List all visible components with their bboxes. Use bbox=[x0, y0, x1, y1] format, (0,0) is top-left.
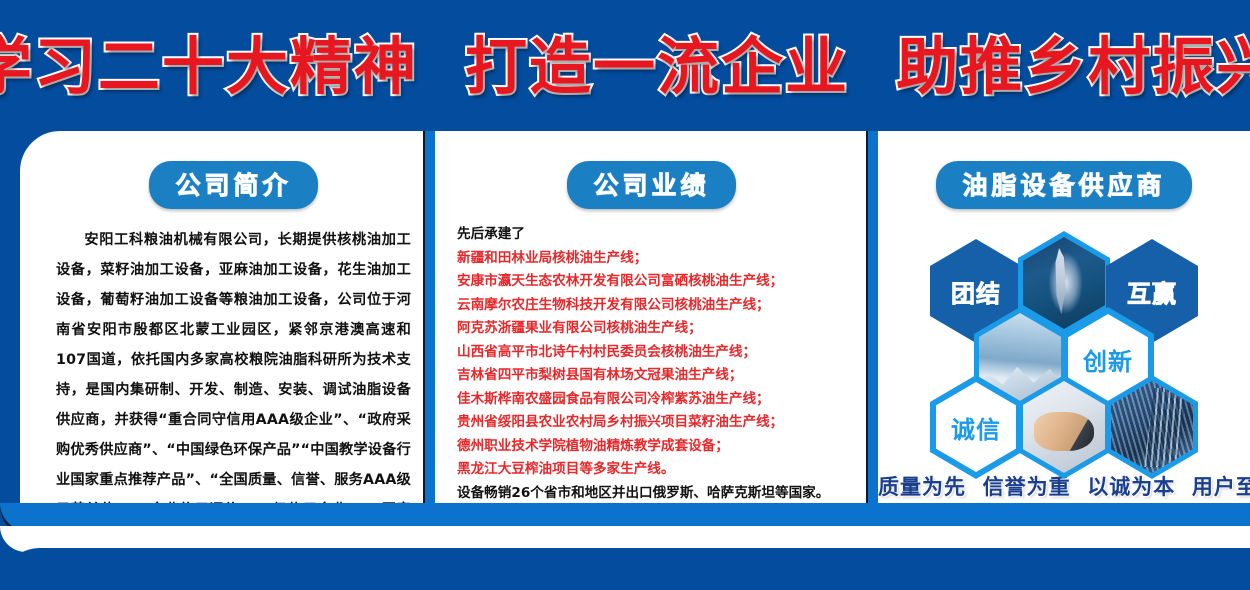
record-item: 佳木斯桦南农盛园食品有限公司冷榨紫苏油生产线； bbox=[457, 388, 868, 412]
sheet-inner-area: 公司简介 安阳工科粮油机械有限公司，长期提供核桃油加工设备，菜籽油加工设备，亚麻… bbox=[20, 131, 1250, 525]
record-item: 贵州省绥阳县农业农村局乡村振兴项目菜籽油生产线； bbox=[457, 411, 868, 435]
hex-inner: 诚信 bbox=[936, 382, 1016, 472]
record-badge: 公司业绩 bbox=[567, 161, 735, 209]
content-sheet: 公司简介 安阳工科粮油机械有限公司，长期提供核桃油加工设备，菜籽油加工设备，亚麻… bbox=[0, 118, 1250, 548]
panel-divider-left bbox=[425, 131, 435, 525]
hex-label: 团结 bbox=[951, 274, 1001, 309]
handshake-icon bbox=[1023, 381, 1105, 473]
banner-title: 学习二十大精神 打造一流企业 助推乡村振兴 bbox=[0, 16, 1250, 106]
panel-divider-right bbox=[868, 131, 878, 525]
intro-badge-row: 公司简介 bbox=[42, 131, 425, 209]
aircraft-carrier-icon bbox=[1023, 237, 1105, 329]
intro-badge: 公司简介 bbox=[149, 161, 317, 209]
intro-body-text: 安阳工科粮油机械有限公司，长期提供核桃油加工设备，菜籽油加工设备，亚麻油加工设备… bbox=[56, 225, 411, 525]
footer-deep-blue bbox=[0, 548, 1250, 590]
record-lead: 先后承建了 bbox=[457, 223, 868, 247]
office-building-icon bbox=[1111, 381, 1193, 473]
record-item: 云南摩尔农庄生物科技开发有限公司核桃油生产线； bbox=[457, 294, 868, 318]
panel-company-record: 公司业绩 先后承建了 新疆和田林业局核桃油生产线； 安康市瀛天生态农林开发有限公… bbox=[435, 131, 868, 525]
record-item: 新疆和田林业局核桃油生产线； bbox=[457, 247, 868, 271]
panel-supplier: 油脂设备供应商 团结 互赢 创新 bbox=[878, 131, 1250, 525]
header-banner: 学习二十大精神 打造一流企业 助推乡村振兴 bbox=[0, 0, 1250, 122]
hex-label: 互赢 bbox=[1127, 274, 1177, 309]
record-item: 阿克苏浙疆果业有限公司核桃油生产线； bbox=[457, 317, 868, 341]
hex-label: 创新 bbox=[1083, 342, 1133, 377]
record-item: 黑龙江大豆榨油项目等多家生产线。 bbox=[457, 458, 868, 482]
values-hexagon-cluster: 团结 互赢 创新 bbox=[878, 217, 1250, 467]
record-item: 山西省高平市北诗午村村民委员会核桃油生产线； bbox=[457, 341, 868, 365]
supplier-badge: 油脂设备供应商 bbox=[936, 161, 1191, 209]
hex-label: 诚信 bbox=[951, 410, 1001, 445]
record-item: 德州职业技术学院植物油精炼教学成套设备； bbox=[457, 435, 868, 459]
panel-company-intro: 公司简介 安阳工科粮油机械有限公司，长期提供核桃油加工设备，菜籽油加工设备，亚麻… bbox=[42, 131, 425, 525]
record-item: 吉林省四平市梨树县国有林场文冠果油生产线； bbox=[457, 364, 868, 388]
footer-decoration bbox=[0, 500, 1250, 590]
record-badge-row: 公司业绩 bbox=[435, 131, 868, 209]
record-item: 安康市瀛天生态农林开发有限公司富硒核桃油生产线； bbox=[457, 270, 868, 294]
record-list: 先后承建了 新疆和田林业局核桃油生产线； 安康市瀛天生态农林开发有限公司富硒核桃… bbox=[457, 223, 868, 525]
supplier-badge-row: 油脂设备供应商 bbox=[878, 131, 1250, 209]
